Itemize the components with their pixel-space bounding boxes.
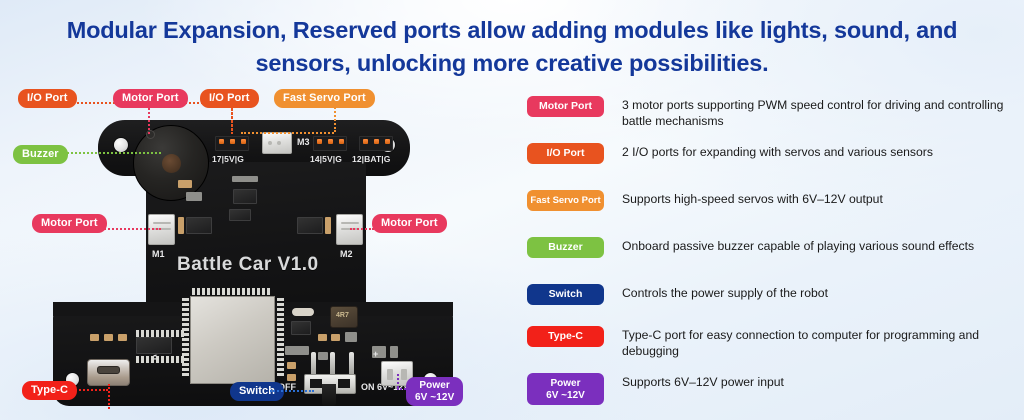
mounting-hole [114,138,128,152]
legend-badge-switch[interactable]: Switch [527,284,604,305]
legend-item-io-port: I/O Port 2 I/O ports for expanding with … [527,143,1024,164]
silk-label: 14|5V|G [310,154,342,164]
solder-pad [285,346,309,355]
leader-type-c-h [68,389,108,391]
callout-power[interactable]: Power 6V ~12V [406,377,463,406]
callout-power-line2: 6V ~12V [415,392,454,403]
solder-pad [318,334,327,341]
solder-pad [178,180,192,188]
solder-pad [287,374,296,381]
silk-label: + [373,349,378,359]
motor-port-m3 [262,132,292,154]
leader-buzzer [63,152,161,154]
mcu-module [190,296,275,384]
legend-badge-io-port[interactable]: I/O Port [527,143,604,164]
leader-switch-h [270,390,314,392]
regulator-ic [291,321,311,335]
legend-badge-motor-port[interactable]: Motor Port [527,96,604,117]
callout-fast-servo-port[interactable]: Fast Servo Port [274,89,375,108]
solder-pad [325,217,331,234]
leader-type-c-v [108,384,110,409]
silk-label: M1 [152,249,165,259]
leader-motor-port-right [350,228,374,230]
board-illustration: 17|5V|G M3 14|5V|G 12|BAT|G M1 M2 Battle… [0,84,520,420]
leader-motor-port-top [148,104,150,134]
switch-pin [330,352,335,376]
solder-pad [104,334,113,341]
switch-pin [349,352,354,376]
legend-item-type-c: Type-C Type-C port for easy connection t… [527,326,1024,359]
legend-desc-fast-servo-port: Supports high-speed servos with 6V–12V o… [622,190,883,208]
legend-badge-fast-servo-port[interactable]: Fast Servo Port [527,190,604,211]
legend-badge-power-line1: Power [550,378,580,389]
legend-badge-type-c[interactable]: Type-C [527,326,604,347]
ic-pins [136,356,184,363]
type-c-port [87,359,130,386]
legend-item-buzzer: Buzzer Onboard passive buzzer capable of… [527,237,1024,258]
leader-fast-servo-port-v [334,104,336,132]
callout-io-port-top-right[interactable]: I/O Port [200,89,259,108]
page-title: Modular Expansion, Reserved ports allow … [0,14,1024,80]
legend-badge-power-line2: 6V ~12V [546,390,585,401]
solder-pad [90,334,99,341]
legend-desc-io-port: 2 I/O ports for expanding with servos an… [622,143,933,161]
leader-fast-servo-port-h [241,132,334,134]
buzzer-vent [162,154,181,173]
module-pins-top [192,288,270,295]
driver-ic [186,217,212,234]
solder-pad [318,352,328,360]
legend-desc-switch: Controls the power supply of the robot [622,284,828,302]
silk-label: 4R7 [336,312,349,319]
legend-desc-buzzer: Onboard passive buzzer capable of playin… [622,237,974,255]
driver-ic [297,217,323,234]
ic-chip [229,209,251,221]
callout-buzzer[interactable]: Buzzer [13,145,68,164]
io-header-17-5v-g [215,136,249,151]
switch-pin [311,352,316,376]
callout-motor-port-left[interactable]: Motor Port [32,214,107,233]
leader-power-v [397,374,399,388]
switch-lever[interactable] [322,384,336,406]
solder-pad [178,217,184,234]
module-pins-left [182,298,189,376]
solder-pad [287,362,296,369]
fast-servo-header-12-bat-g [359,136,393,151]
solder-pad [331,334,340,341]
ic-chip [233,189,257,204]
leader-motor-port-left [101,228,161,230]
silk-label: 12|BAT|G [352,154,390,164]
board-brand-text: Battle Car V1.0 [177,254,319,276]
callout-motor-port-right[interactable]: Motor Port [372,214,447,233]
callout-io-port-top-left[interactable]: I/O Port [18,89,77,108]
capacitor [292,308,314,316]
solder-pad [186,192,202,201]
legend-desc-power: Supports 6V–12V power input [622,373,784,391]
solder-pad [390,346,398,358]
module-pins-right [277,298,284,376]
leader-power-h [397,388,409,390]
legend-item-power: Power 6V ~12V Supports 6V–12V power inpu… [527,373,1024,405]
silk-label: M3 [297,137,310,147]
callout-power-line1: Power [419,380,450,391]
leader-io-port-top-right [231,104,233,134]
solder-pad [345,332,357,342]
legend-badge-buzzer[interactable]: Buzzer [527,237,604,258]
legend-item-motor-port: Motor Port 3 motor ports supporting PWM … [527,96,1024,129]
legend-badge-power[interactable]: Power 6V ~12V [527,373,604,405]
silk-label: M2 [340,249,353,259]
silk-label: 17|5V|G [212,154,244,164]
legend-desc-motor-port: 3 motor ports supporting PWM speed contr… [622,96,1022,129]
io-header-14-5v-g [313,136,347,151]
legend-item-fast-servo-port: Fast Servo Port Supports high-speed serv… [527,190,1024,211]
solder-pad [118,334,127,341]
ic-chip [136,337,172,354]
callout-motor-port-top[interactable]: Motor Port [113,89,188,108]
legend-item-switch: Switch Controls the power supply of the … [527,284,1024,305]
ic-pins [136,330,184,337]
solder-pad [232,176,258,182]
legend-desc-type-c: Type-C port for easy connection to compu… [622,326,1022,359]
